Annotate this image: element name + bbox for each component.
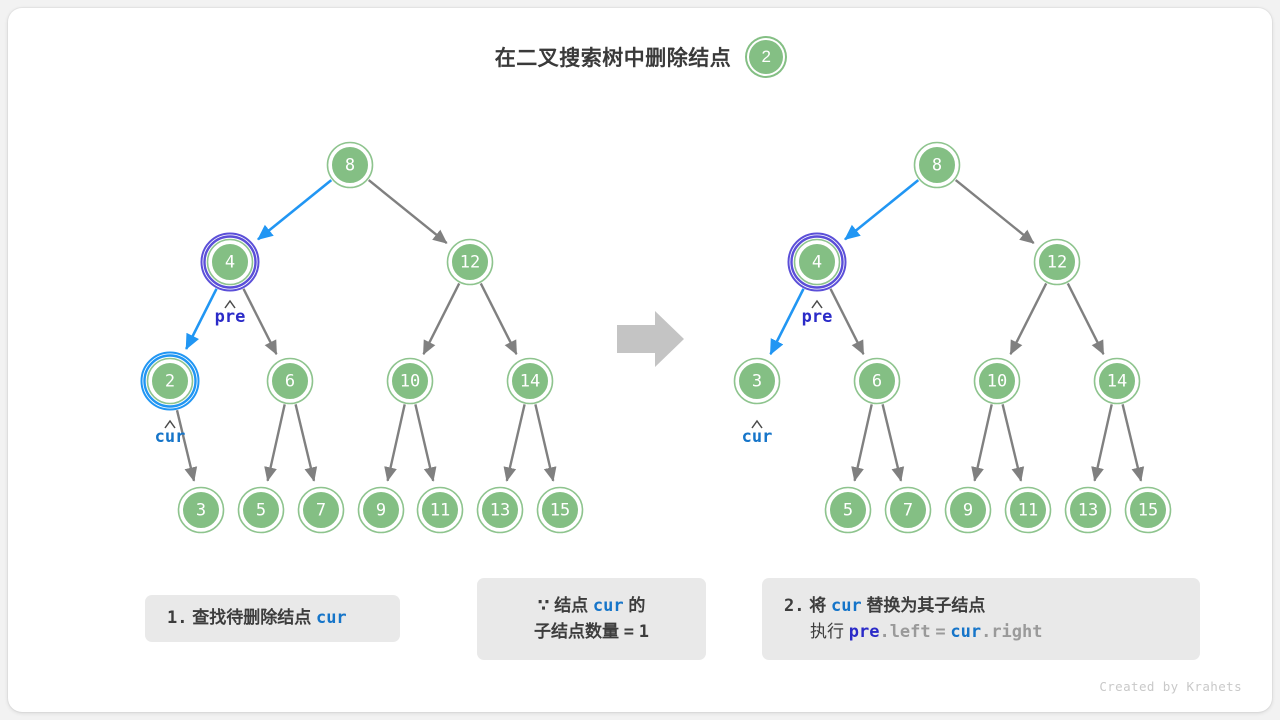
caption-step-2-cur-prop: .right (981, 622, 1042, 642)
node-value: 15 (550, 501, 570, 521)
tree-node-10[interactable]: 10 (975, 359, 1020, 404)
tree-edge (258, 180, 331, 239)
diagram-canvas: 在二叉搜索树中删除结点 2 84122610143579111315841236… (0, 0, 1280, 720)
tree-node-2[interactable]: 2 (142, 353, 199, 410)
node-value: 12 (1047, 253, 1067, 273)
caption-step-1-var: cur (316, 608, 347, 628)
node-value: 3 (752, 372, 762, 392)
diagram-card: 在二叉搜索树中删除结点 2 84122610143579111315841236… (8, 8, 1272, 712)
tree-edge (186, 289, 216, 349)
node-value: 8 (932, 156, 942, 176)
caption-step-2-pre-prop: .left (879, 622, 930, 642)
node-value: 13 (490, 501, 510, 521)
node-value: 8 (345, 156, 355, 176)
pointer-text: pre (215, 307, 246, 327)
tree-node-7[interactable]: 7 (299, 488, 344, 533)
caption-step-2-verb: 将 (809, 596, 826, 615)
tree-node-13[interactable]: 13 (478, 488, 523, 533)
tree-edge (424, 283, 460, 354)
caption-step-2-cur-var: cur (950, 622, 981, 642)
tree-edge (244, 289, 277, 354)
tree-node-6[interactable]: 6 (855, 359, 900, 404)
caption-condition-count-label: 子结点数量 (534, 622, 619, 641)
tree-edge (1123, 404, 1141, 481)
node-value: 11 (430, 501, 450, 521)
because-symbol: ∵ (538, 596, 550, 615)
tree-edge (845, 180, 918, 239)
tree-node-3[interactable]: 3 (179, 488, 224, 533)
tree-edge (535, 404, 553, 480)
node-value: 6 (872, 372, 882, 392)
node-value: 15 (1138, 501, 1158, 521)
caption-step-1-label: 查找待删除结点 (192, 608, 311, 627)
caption-step-2-index: 2. (784, 596, 804, 616)
node-value: 13 (1078, 501, 1098, 521)
tree-edge (771, 289, 804, 354)
node-value: 4 (225, 253, 235, 273)
caption-step-2-phrase: 替换为其子结点 (866, 596, 985, 615)
tree-edge (507, 404, 525, 480)
caption-step-2-line-1: 2. 将 cur 替换为其子结点 (784, 593, 1178, 620)
credit-text: Created by Krahets (1099, 679, 1242, 694)
tree-node-15[interactable]: 15 (538, 488, 583, 533)
tree-edge (481, 283, 517, 354)
tree-edge (975, 404, 992, 480)
caption-step-1-index: 1. (167, 608, 187, 628)
caption-condition-line-1: ∵ 结点 cur 的 (538, 593, 646, 620)
caption-step-2-var: cur (831, 596, 862, 616)
node-value: 6 (285, 372, 295, 392)
tree-edge (369, 180, 447, 243)
pointer-label-pre: pre (802, 301, 833, 327)
tree-edge (268, 404, 285, 480)
node-value: 2 (165, 372, 175, 392)
node-value: 9 (376, 501, 386, 521)
tree-node-11[interactable]: 11 (418, 488, 463, 533)
node-value: 10 (400, 372, 420, 392)
node-value: 3 (196, 501, 206, 521)
tree-node-12[interactable]: 12 (1035, 240, 1080, 285)
node-value: 9 (963, 501, 973, 521)
node-value: 7 (903, 501, 913, 521)
pointer-text: pre (802, 307, 833, 327)
pointer-text: cur (742, 427, 773, 447)
tree-node-5[interactable]: 5 (826, 488, 871, 533)
node-value: 7 (316, 501, 326, 521)
tree-edge (883, 404, 901, 481)
tree-node-4[interactable]: 4 (202, 234, 259, 291)
node-value: 10 (987, 372, 1007, 392)
caption-step-2-equals: = (935, 622, 945, 642)
tree-node-8[interactable]: 8 (915, 143, 960, 188)
tree-node-11[interactable]: 11 (1006, 488, 1051, 533)
caption-step-2-pre-var: pre (849, 622, 880, 642)
tree-node-7[interactable]: 7 (886, 488, 931, 533)
tree-edge (1003, 404, 1021, 481)
tree-node-3[interactable]: 3 (735, 359, 780, 404)
tree-node-6[interactable]: 6 (268, 359, 313, 404)
caption-condition-line-2: 子结点数量 = 1 (534, 619, 649, 646)
tree-edge (831, 289, 864, 354)
tree-edge (1011, 283, 1047, 354)
tree-node-10[interactable]: 10 (388, 359, 433, 404)
caption-step-2: 2. 将 cur 替换为其子结点 执行 pre.left = cur.right (762, 578, 1200, 660)
tree-node-12[interactable]: 12 (448, 240, 493, 285)
tree-node-4[interactable]: 4 (789, 234, 846, 291)
tree-node-14[interactable]: 14 (1095, 359, 1140, 404)
tree-edge (1068, 283, 1104, 354)
tree-edge (388, 404, 405, 480)
transition-arrow-icon (617, 311, 684, 367)
tree-node-15[interactable]: 15 (1126, 488, 1171, 533)
caption-condition-var: cur (593, 596, 624, 616)
node-value: 5 (843, 501, 853, 521)
caption-step-2-exec-word: 执行 (810, 622, 844, 641)
node-value: 14 (1107, 372, 1127, 392)
pointers-layer: precurprecur (155, 301, 833, 447)
tree-edge (1095, 404, 1112, 480)
node-value: 12 (460, 253, 480, 273)
caption-step-1: 1. 查找待删除结点 cur (145, 595, 400, 642)
tree-node-9[interactable]: 9 (359, 488, 404, 533)
caption-step-2-line-2: 执行 pre.left = cur.right (784, 619, 1178, 646)
caption-step-1-text: 1. 查找待删除结点 cur (167, 605, 378, 632)
pointer-label-cur: cur (742, 421, 773, 447)
node-value: 4 (812, 253, 822, 273)
tree-node-14[interactable]: 14 (508, 359, 553, 404)
caption-condition: ∵ 结点 cur 的 子结点数量 = 1 (477, 578, 706, 660)
node-value: 5 (256, 501, 266, 521)
tree-edge (415, 404, 433, 480)
pointer-label-pre: pre (215, 301, 246, 327)
caption-condition-node-word: 结点 (554, 596, 588, 615)
pointer-text: cur (155, 427, 186, 447)
node-value: 11 (1018, 501, 1038, 521)
tree-node-9[interactable]: 9 (946, 488, 991, 533)
tree-edge (956, 180, 1034, 243)
tree-node-13[interactable]: 13 (1066, 488, 1111, 533)
tree-edge (296, 404, 314, 481)
caption-condition-count-value: 1 (639, 622, 649, 642)
tree-node-5[interactable]: 5 (239, 488, 284, 533)
tree-node-8[interactable]: 8 (328, 143, 373, 188)
node-value: 14 (520, 372, 540, 392)
caption-condition-particle: 的 (628, 596, 645, 615)
caption-condition-equals: = (624, 622, 634, 642)
tree-edge (855, 404, 872, 480)
